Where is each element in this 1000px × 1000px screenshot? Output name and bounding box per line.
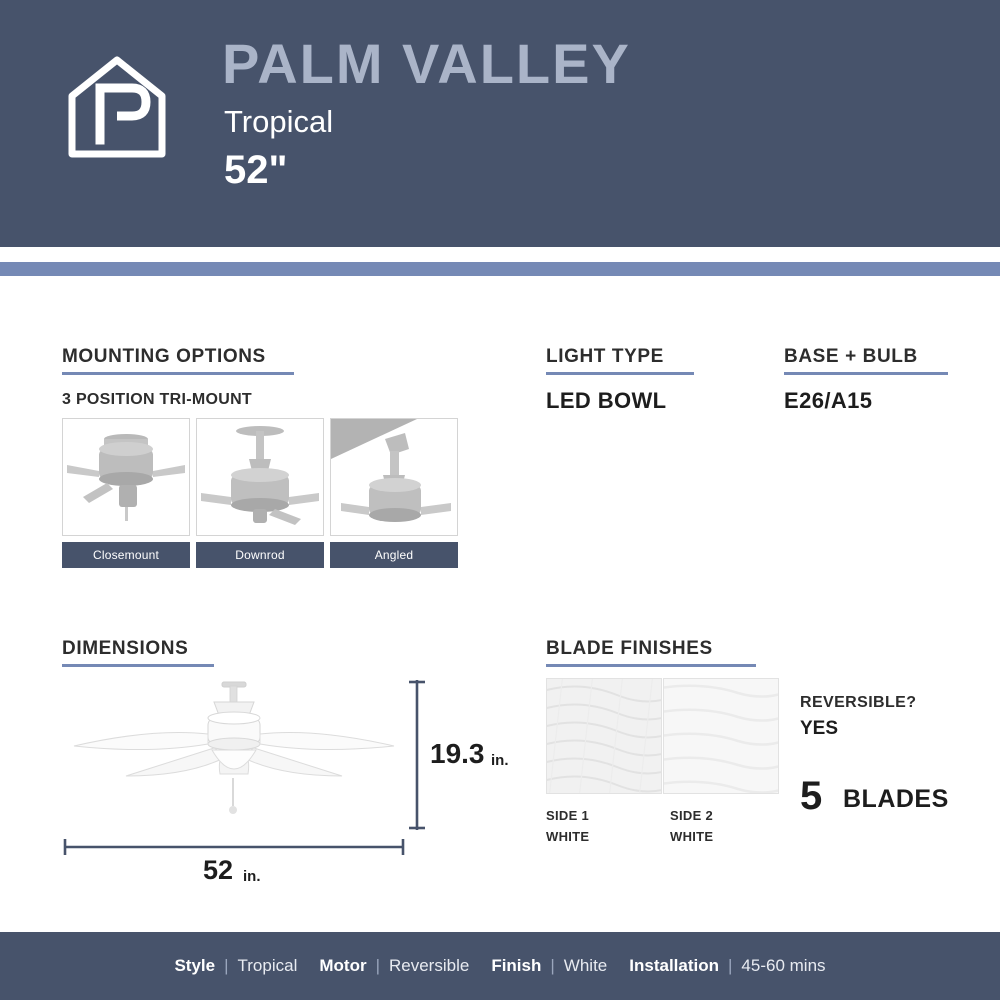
footer-value-finish: White [564,956,607,976]
footer-value-installation: 45-60 mins [741,956,825,976]
footer-key-installation: Installation [629,956,719,976]
blade-count-label: BLADES [843,785,949,814]
footer-value-motor: Reversible [389,956,469,976]
base-bulb-heading: BASE + BULB [784,346,948,375]
fan-angled-icon [330,418,458,536]
mount-option-downrod[interactable]: Downrod [196,418,324,568]
light-type-heading: LIGHT TYPE [546,346,694,375]
height-unit: in. [491,752,509,769]
mount-option-label: Downrod [196,542,324,568]
mount-option-label: Closemount [62,542,190,568]
spec-sheet-page: PALM VALLEY Tropical 52" MOUNTING OPTION… [0,0,1000,1000]
footer-separator: | [550,956,554,976]
height-value: 19.3 [430,738,485,770]
reversible-value: YES [800,718,838,740]
blade-swatch-side2[interactable] [663,678,779,794]
fan-closemount-icon [62,418,190,536]
pbh-house-logo-icon [62,52,172,162]
light-type-value: LED BOWL [546,388,667,414]
height-dimension-arrow [408,676,426,834]
mount-option-angled[interactable]: Angled [330,418,458,568]
mounting-subheading: 3 POSITION TRI-MOUNT [62,391,252,409]
footer-separator: | [376,956,380,976]
dimensions-heading: DIMENSIONS [62,638,214,667]
product-size: 52" [224,148,287,193]
footer-separator: | [224,956,228,976]
side1-color: WHITE [546,829,589,844]
reversible-label: REVERSIBLE? [800,694,916,712]
side1-label: SIDE 1 [546,808,589,823]
ceiling-fan-silhouette-icon [62,672,402,832]
width-unit: in. [243,868,261,885]
header-accent-bar [0,262,1000,276]
mounting-options-heading: MOUNTING OPTIONS [62,346,294,375]
page-title: PALM VALLEY [222,36,631,92]
footer-key-style: Style [174,956,215,976]
width-dimension-arrow [60,838,408,856]
width-value: 52 [203,855,233,886]
side2-color: WHITE [670,829,713,844]
blade-swatch-side1[interactable] [546,678,662,794]
footer-value-style: Tropical [238,956,298,976]
base-bulb-value: E26/A15 [784,388,872,414]
product-family: Tropical [224,104,333,140]
mount-option-label: Angled [330,542,458,568]
footer-separator: | [728,956,732,976]
fan-downrod-icon [196,418,324,536]
footer-bar: Style | Tropical Motor | Reversible Fini… [0,932,1000,1000]
blade-finishes-heading: BLADE FINISHES [546,638,756,667]
blade-count: 5 [800,776,822,816]
mount-option-closemount[interactable]: Closemount [62,418,190,568]
side2-label: SIDE 2 [670,808,713,823]
footer-key-motor: Motor [319,956,366,976]
footer-key-finish: Finish [491,956,541,976]
